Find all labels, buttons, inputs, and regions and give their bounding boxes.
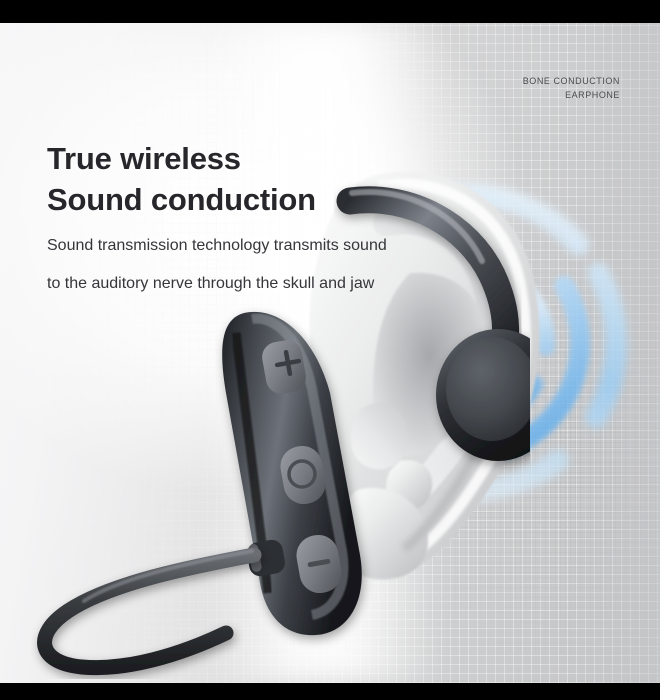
product-banner: BONE CONDUCTION EARPHONE True wireless S… [0, 0, 660, 700]
bone-conduction-driver [436, 329, 530, 461]
kicker-label: BONE CONDUCTION EARPHONE [523, 75, 620, 102]
headline-line-1: True wireless [47, 139, 387, 180]
neckband-cable [45, 551, 254, 668]
letterbox-bar-top [0, 0, 660, 23]
subhead-line-1: Sound transmission technology transmits … [47, 233, 387, 259]
copy-block: True wireless Sound conduction Sound tra… [47, 139, 387, 297]
letterbox-bar-bottom [0, 683, 660, 700]
kicker-line-1: BONE CONDUCTION [523, 75, 620, 89]
subhead-line-2: to the auditory nerve through the skull … [47, 271, 387, 297]
kicker-line-2: EARPHONE [523, 89, 620, 103]
headline-line-2: Sound conduction [47, 180, 387, 221]
product-photo-canvas: BONE CONDUCTION EARPHONE True wireless S… [0, 23, 660, 683]
